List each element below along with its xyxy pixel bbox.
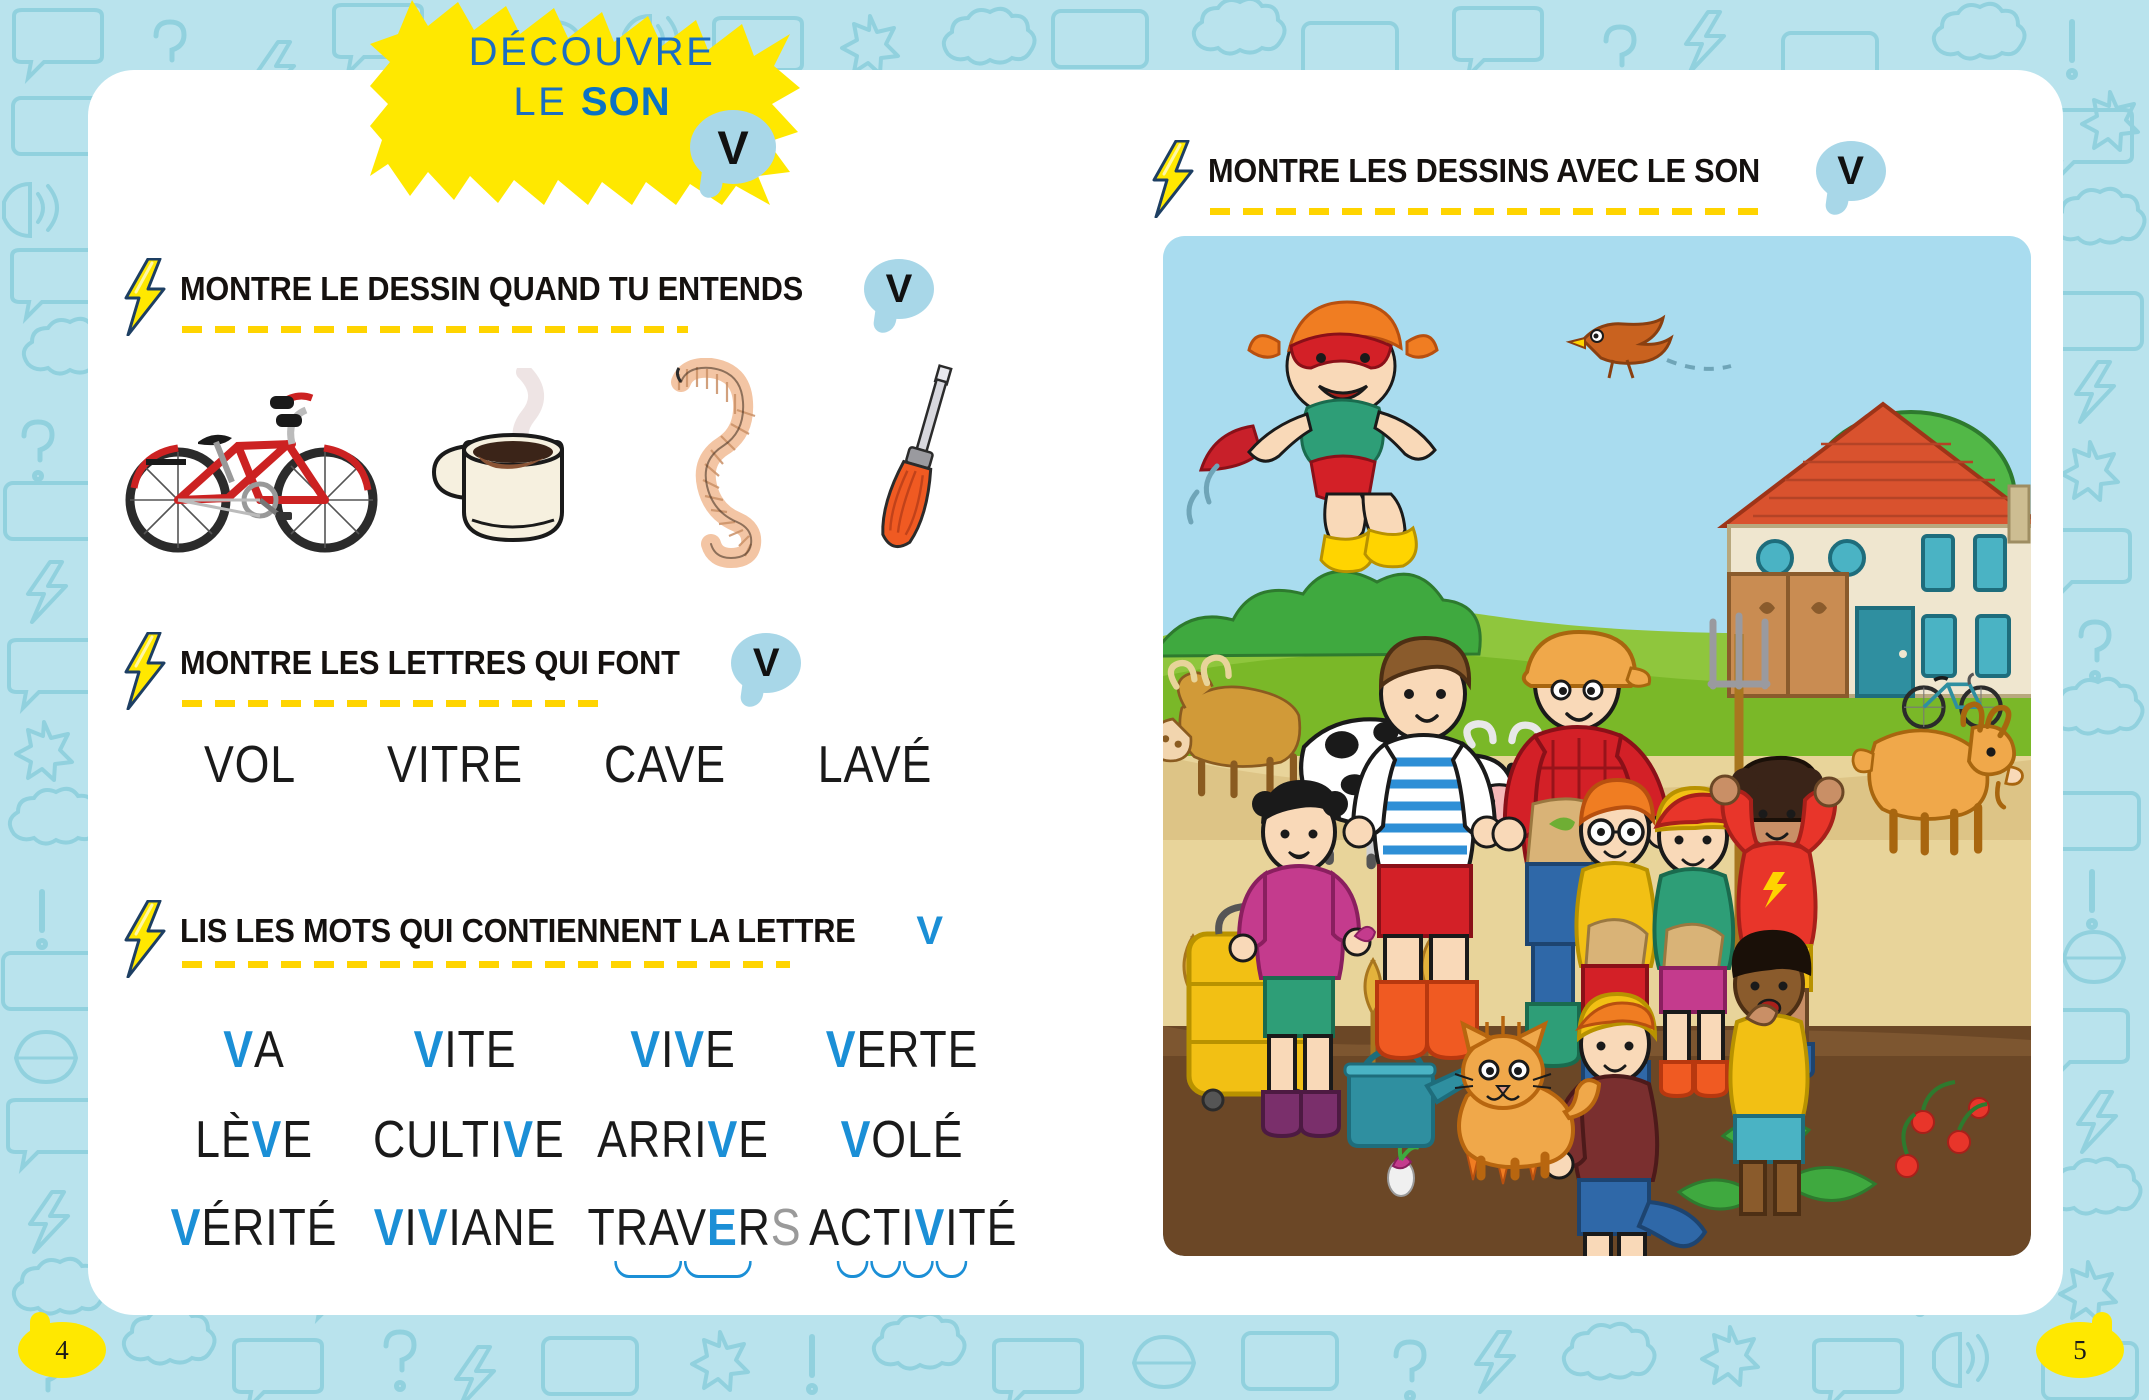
lightning-bolt-icon [122, 632, 166, 710]
page-number-left-value: 4 [18, 1322, 106, 1378]
task-read: LIS LES MOTS QUI CONTIENNENT LA LETTRE V [122, 900, 943, 978]
header-sound-letter: V [690, 110, 776, 184]
speech-bubble-icon: V [690, 110, 776, 184]
letter-word: LAVÉ [785, 735, 966, 795]
speech-bubble-icon: V [864, 259, 934, 319]
task-listen-letter: V [864, 259, 934, 319]
coffee-cup-illustration [420, 368, 610, 573]
task-listen: MONTRE LE DESSIN QUAND TU ENTENDS V [122, 258, 934, 336]
syllable-arc [870, 1261, 901, 1278]
letter-word: VITRE [365, 735, 546, 795]
dashed-underline [182, 326, 688, 333]
task-scene: MONTRE LES DESSINS AVEC LE SON V [1150, 140, 1886, 218]
reading-word: TRAVERS [588, 1198, 779, 1258]
reading-word: VA [165, 1020, 344, 1080]
syllable-arc [684, 1261, 752, 1278]
reading-word: VERTE [809, 1020, 995, 1080]
task-scene-label: MONTRE LES DESSINS AVEC LE SON [1208, 152, 1760, 190]
speech-bubble-icon: V [731, 633, 801, 693]
task-read-label: LIS LES MOTS QUI CONTIENNENT LA LETTRE [180, 912, 856, 950]
syllable-arc [837, 1261, 868, 1278]
reading-word: VÉRITÉ [165, 1198, 344, 1258]
lightning-bolt-icon [1150, 140, 1194, 218]
letter-word-row: VOL VITRE CAVE LAVÉ [150, 735, 990, 795]
reading-word: LÈVE [165, 1110, 344, 1170]
syllable-arcs [809, 1261, 995, 1278]
syllable-arc [936, 1261, 967, 1278]
header-sound-bubble: V [690, 110, 776, 184]
worm-illustration [665, 358, 805, 573]
letter-word: CAVE [575, 735, 756, 795]
syllable-arc [903, 1261, 934, 1278]
task-letters-letter: V [731, 633, 801, 693]
reading-word: ACTIVITÉ [809, 1198, 995, 1258]
syllable-arc [614, 1261, 682, 1278]
dashed-underline [182, 961, 790, 968]
screwdriver-illustration [850, 358, 990, 573]
task-scene-letter: V [1816, 141, 1886, 201]
task-letters: MONTRE LES LETTRES QUI FONT V [122, 632, 801, 710]
lightning-bolt-icon [122, 258, 166, 336]
task-listen-label: MONTRE LE DESSIN QUAND TU ENTENDS [180, 270, 803, 308]
syllable-arcs [588, 1261, 779, 1278]
letter-word: VOL [164, 735, 336, 795]
picture-row [110, 358, 1010, 588]
reading-word-row: VAVITEVIVEVERTE [150, 1020, 1010, 1080]
dashed-underline [182, 700, 606, 707]
reading-word-row: LÈVECULTIVEARRIVEVOLÉ [150, 1110, 1010, 1170]
lightning-bolt-icon [122, 900, 166, 978]
page-number-right: 5 [2036, 1322, 2124, 1378]
page-number-left: 4 [18, 1322, 106, 1378]
task-read-letter: V [916, 909, 943, 954]
speech-bubble-icon: V [1816, 141, 1886, 201]
reading-word: VOLÉ [809, 1110, 995, 1170]
reading-word: VIVE [588, 1020, 779, 1080]
reading-word-row: VÉRITÉVIVIANETRAVERSACTIVITÉ [150, 1198, 1010, 1258]
reading-word: ARRIVE [588, 1110, 779, 1170]
reading-word: VITE [373, 1020, 557, 1080]
reading-word: CULTIVE [373, 1110, 557, 1170]
bicycle-illustration [120, 378, 390, 563]
task-letters-label: MONTRE LES LETTRES QUI FONT [180, 644, 680, 682]
page-number-right-value: 5 [2036, 1322, 2124, 1378]
farm-scene-illustration [1163, 236, 2031, 1256]
dashed-underline [1210, 208, 1766, 215]
reading-word: VIVIANE [373, 1198, 557, 1258]
